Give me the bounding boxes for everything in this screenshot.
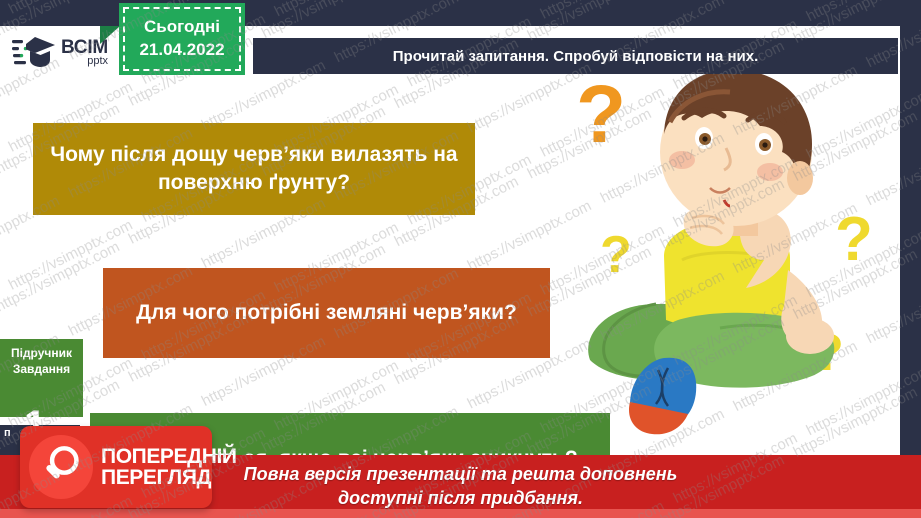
date-badge: Сьогодні 21.04.2022 [119, 3, 245, 75]
sidebar-label-line2: Завдання [0, 361, 83, 377]
question-text-2: Для чого потрібні земляні черв’яки? [136, 299, 517, 327]
preview-badge-line-2: ПЕРЕГЛЯД [101, 467, 237, 488]
promo-line-1: Повна версія презентації та решта доповн… [244, 463, 678, 486]
magnifier-icon [29, 435, 93, 499]
svg-text:?: ? [600, 226, 632, 284]
frame-left-strip [0, 0, 10, 26]
preview-badge-line-1: ПОПЕРЕДНІЙ [101, 446, 237, 467]
slide-header-bar: Прочитай запитання. Спробуй відповісти н… [253, 38, 898, 74]
question-box-1: Чому після дощу черв’яки вилазять на пов… [33, 123, 475, 215]
date-badge-label: Сьогодні [144, 16, 220, 39]
slide-header-title: Прочитай запитання. Спробуй відповісти н… [393, 48, 759, 65]
presentation-slide: ? ? ? ? [0, 0, 921, 518]
question-text-1: Чому після дощу черв’яки вилазять на пов… [33, 141, 475, 196]
question-box-2: Для чого потрібні земляні черв’яки? [103, 268, 550, 358]
svg-text:?: ? [835, 205, 873, 274]
date-badge-value: 21.04.2022 [139, 39, 224, 62]
preview-badge-text: ПОПЕРЕДНІЙ ПЕРЕГЛЯД [101, 446, 237, 489]
promo-line-2: доступні після придбання. [338, 487, 583, 510]
preview-badge: ПОПЕРЕДНІЙ ПЕРЕГЛЯД [20, 426, 212, 508]
date-badge-corner [100, 26, 120, 44]
sidebar-label-line1: Підручник [0, 345, 83, 361]
graduation-cap-icon [12, 35, 56, 69]
svg-text:?: ? [576, 69, 626, 160]
thinking-boy-illustration: ? ? ? ? [560, 60, 910, 518]
